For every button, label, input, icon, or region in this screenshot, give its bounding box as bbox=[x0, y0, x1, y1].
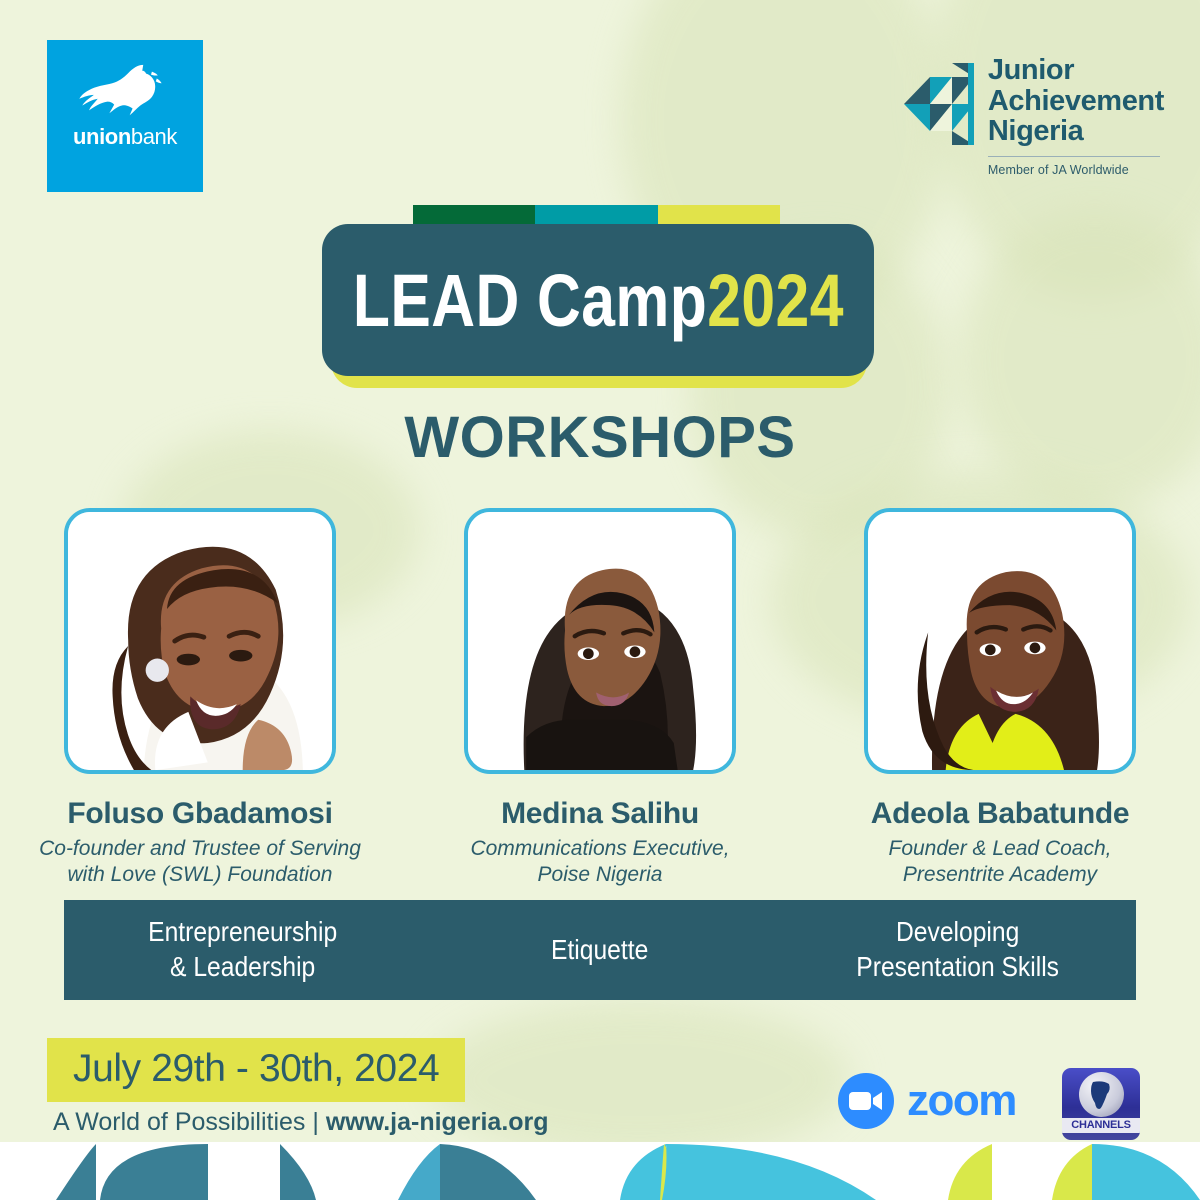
jumping-horse-icon bbox=[71, 62, 169, 122]
divider bbox=[988, 156, 1160, 157]
topic-item: Developing Presentation Skills bbox=[800, 915, 1114, 984]
ja-nigeria-logo: Junior Achievement Nigeria Member of JA … bbox=[904, 55, 1164, 177]
topic-item: Entrepreneurship & Leadership bbox=[85, 915, 399, 984]
event-title: LEAD Camp2024 bbox=[353, 258, 844, 343]
africa-shape bbox=[1087, 1080, 1115, 1110]
africa-globe-icon bbox=[1079, 1072, 1124, 1117]
ja-line-1: Junior bbox=[988, 55, 1164, 86]
speaker-role: Co-founder and Trustee of Serving with L… bbox=[39, 836, 361, 889]
topic-item: Etiquette bbox=[443, 933, 757, 968]
speaker-card: Adeola Babatunde Founder & Lead Coach, P… bbox=[800, 508, 1200, 889]
tagline-text: A World of Possibilities | bbox=[53, 1108, 326, 1136]
ja-line-2: Achievement bbox=[988, 86, 1164, 117]
website-url[interactable]: www.ja-nigeria.org bbox=[326, 1108, 549, 1136]
portrait-foluso-gbadamosi bbox=[68, 512, 332, 770]
section-heading: WORKSHOPS bbox=[0, 404, 1200, 471]
channels-wordmark: CHANNELS bbox=[1062, 1118, 1140, 1133]
zoom-wordmark: zoom bbox=[907, 1076, 1016, 1126]
union-bank-name-light: bank bbox=[131, 124, 177, 149]
ja-nigeria-wordmark: Junior Achievement Nigeria Member of JA … bbox=[988, 55, 1164, 177]
union-bank-wordmark: unionbank bbox=[73, 124, 177, 150]
union-bank-logo: unionbank bbox=[47, 40, 203, 192]
speaker-role: Founder & Lead Coach, Presentrite Academ… bbox=[889, 836, 1112, 889]
zoom-logo: zoom bbox=[838, 1073, 1016, 1129]
speaker-name: Adeola Babatunde bbox=[871, 797, 1130, 830]
banner-plate: LEAD Camp2024 bbox=[322, 224, 874, 376]
zoom-badge bbox=[838, 1073, 894, 1129]
video-camera-icon bbox=[849, 1090, 883, 1112]
speaker-role: Communications Executive, Poise Nigeria bbox=[470, 836, 729, 889]
union-bank-name-bold: union bbox=[73, 124, 131, 149]
portrait-medina-salihu bbox=[468, 512, 732, 770]
ja-triangle-mark-icon bbox=[904, 63, 974, 145]
speaker-list: Foluso Gbadamosi Co-founder and Trustee … bbox=[0, 508, 1200, 889]
speaker-name: Medina Salihu bbox=[501, 797, 699, 830]
ja-member-note: Member of JA Worldwide bbox=[988, 163, 1164, 177]
topics-bar: Entrepreneurship & Leadership Etiquette … bbox=[64, 900, 1136, 1000]
ja-line-3: Nigeria bbox=[988, 116, 1164, 147]
speaker-portrait-frame bbox=[864, 508, 1136, 774]
speaker-card: Medina Salihu Communications Executive, … bbox=[400, 508, 800, 889]
portrait-adeola-babatunde bbox=[868, 512, 1132, 770]
speaker-card: Foluso Gbadamosi Co-founder and Trustee … bbox=[0, 508, 400, 889]
footer-curve-shapes bbox=[0, 1142, 1200, 1200]
footer-decoration-band bbox=[0, 1142, 1200, 1200]
channels-tv-logo: CHANNELS bbox=[1062, 1068, 1140, 1140]
event-title-main: LEAD Camp bbox=[353, 259, 707, 342]
event-date-badge: July 29th - 30th, 2024 bbox=[47, 1038, 465, 1102]
tagline: A World of Possibilities | www.ja-nigeri… bbox=[53, 1108, 549, 1137]
event-title-year: 2024 bbox=[707, 259, 844, 342]
speaker-name: Foluso Gbadamosi bbox=[67, 797, 332, 830]
speaker-portrait-frame bbox=[64, 508, 336, 774]
speaker-portrait-frame bbox=[464, 508, 736, 774]
event-dates: July 29th - 30th, 2024 bbox=[73, 1047, 439, 1090]
